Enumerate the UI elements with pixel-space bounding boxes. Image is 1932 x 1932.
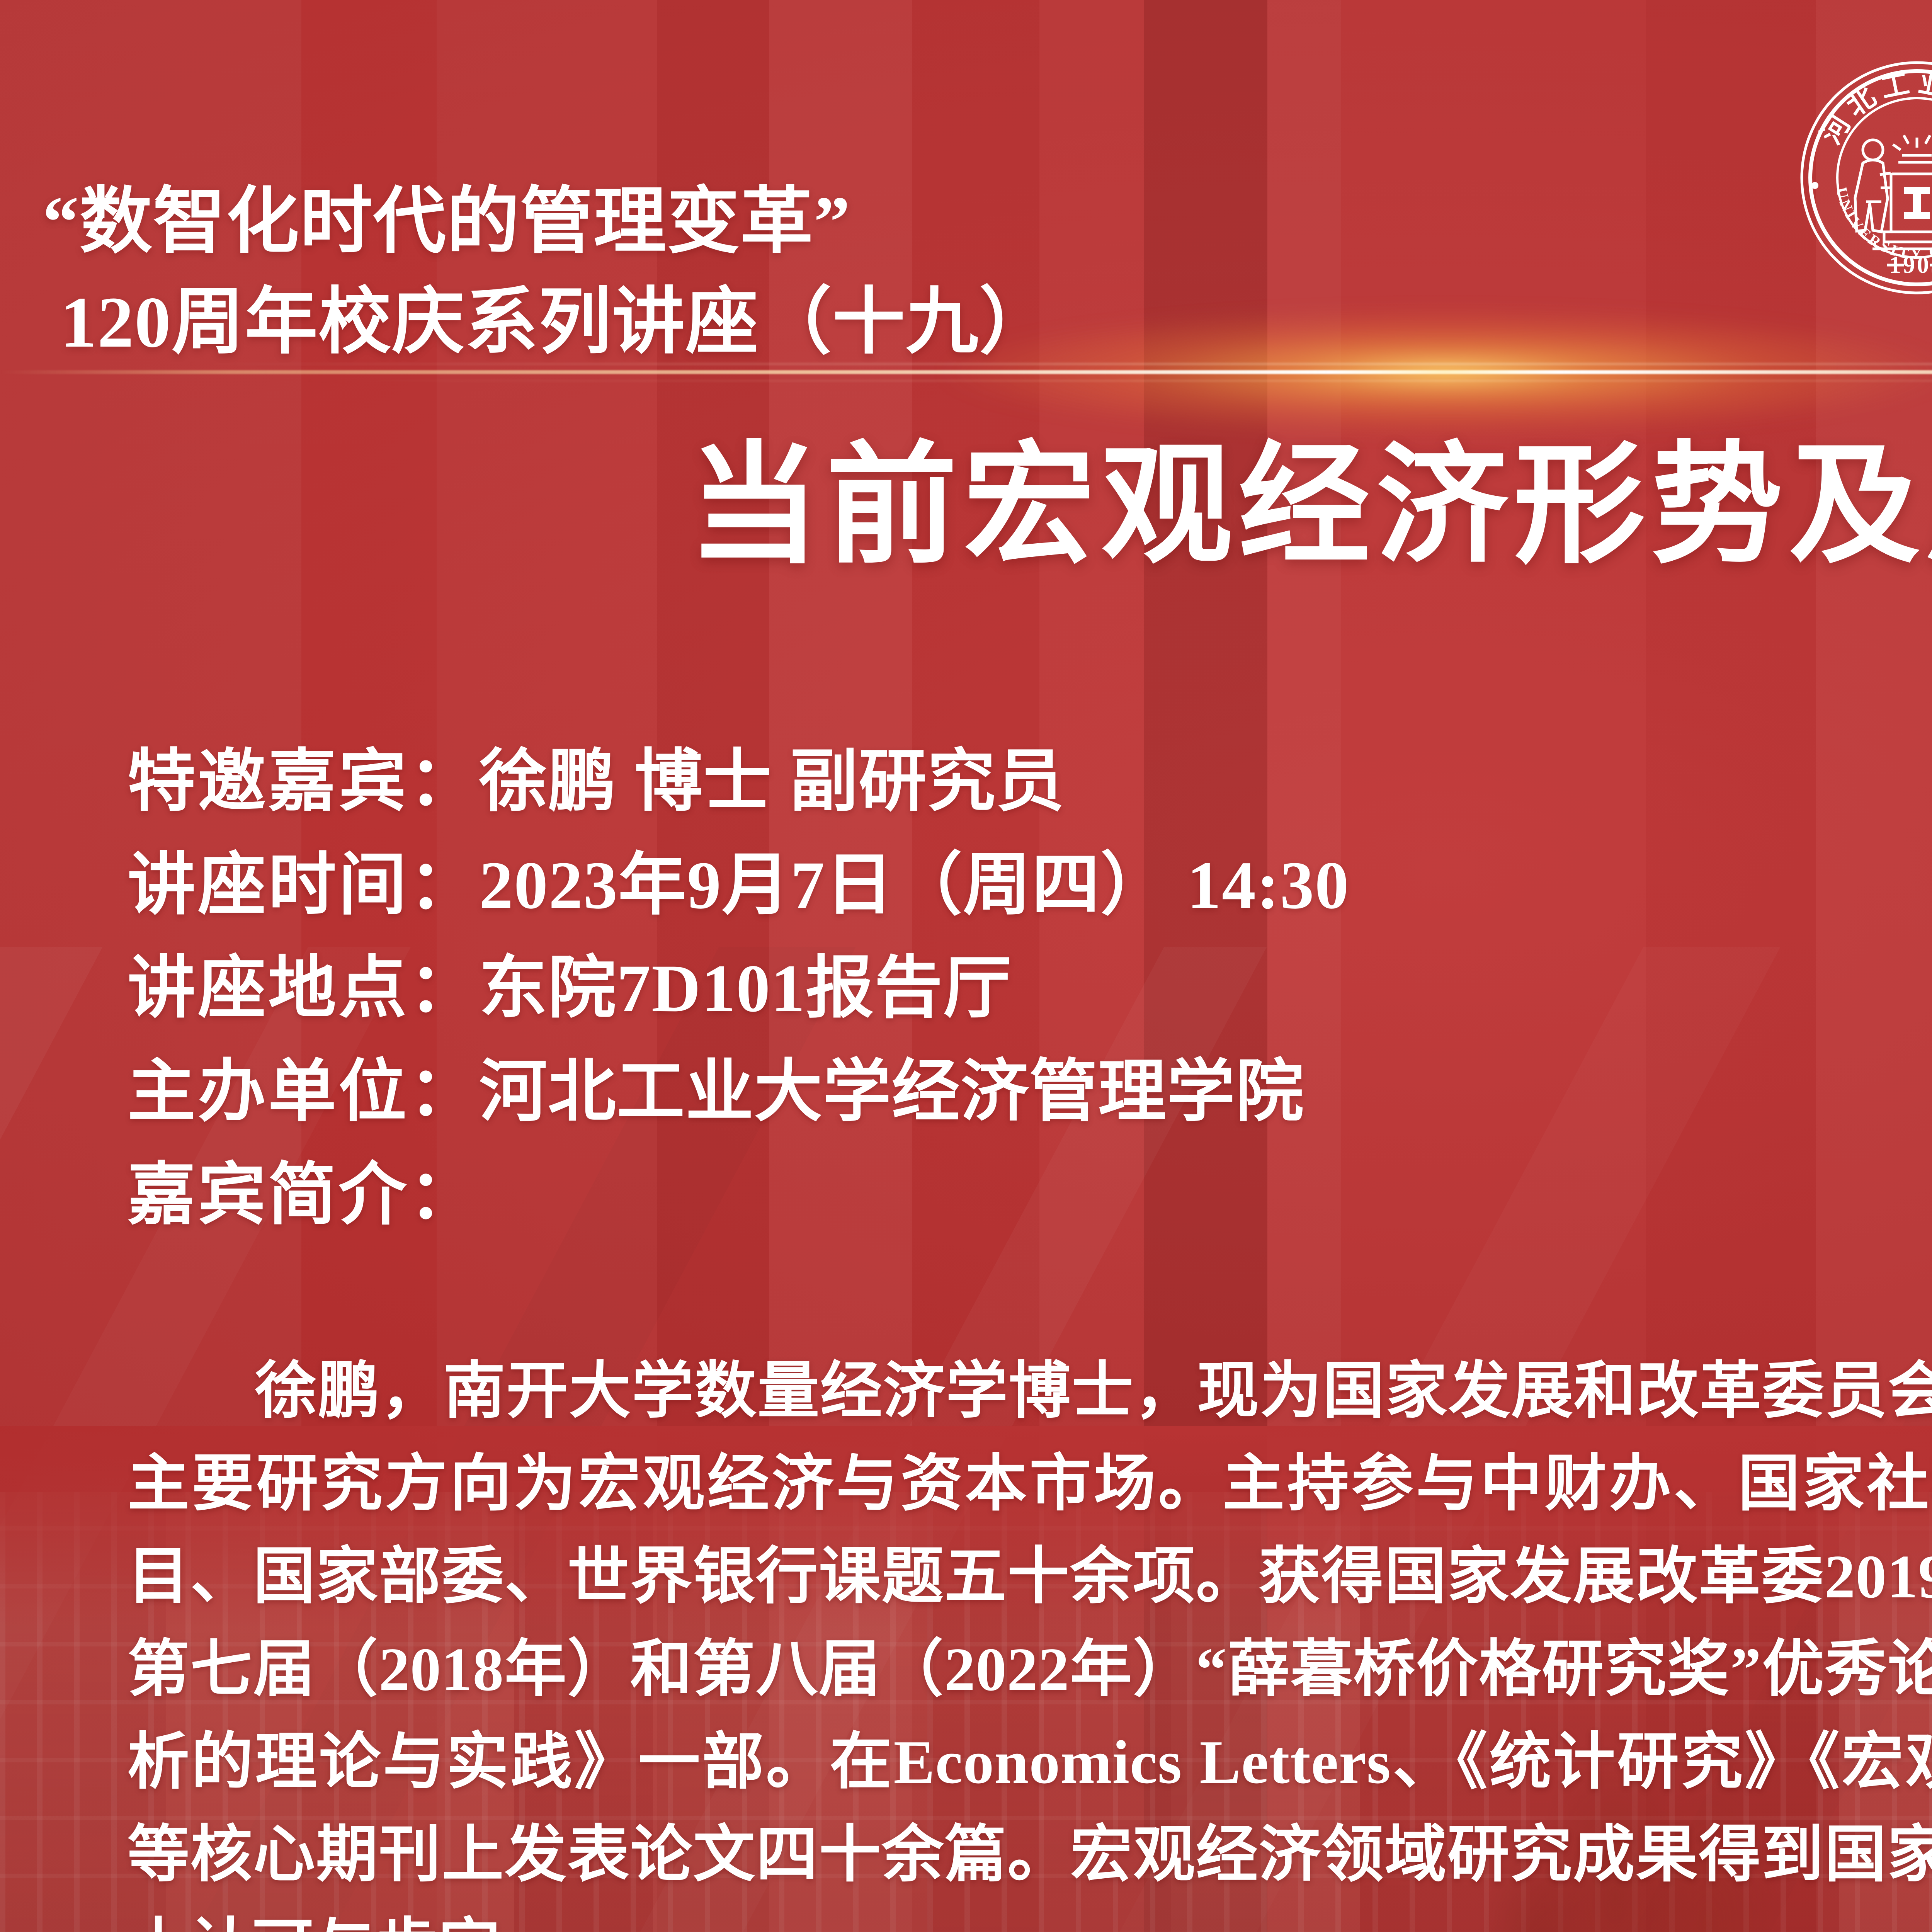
info-label-guest: 特邀嘉宾： <box>128 744 479 820</box>
info-value-venue: 东院7D101报告厅 <box>479 951 1012 1026</box>
lecture-poster: “数智化时代的管理变革” 120周年校庆系列讲座（十九） 河北工业大学 HEBE… <box>0 0 1932 1932</box>
series-line-1: “数智化时代的管理变革” <box>43 181 851 262</box>
info-row-bio-heading: 嘉宾简介： <box>128 1144 1932 1247</box>
poster-header: “数智化时代的管理变革” 120周年校庆系列讲座（十九） 河北工业大学 HEBE… <box>0 0 1932 340</box>
info-row-guest: 特邀嘉宾：徐鹏 博士 副研究员 <box>128 730 1932 834</box>
flare-streak-2 <box>289 380 1932 381</box>
info-value-time: 2023年9月7日（周四） 14:30 <box>479 848 1350 923</box>
info-label-time: 讲座时间： <box>128 848 479 923</box>
lecture-title: 当前宏观经济形势及展望 <box>0 429 1932 584</box>
info-row-time: 讲座时间：2023年9月7日（周四） 14:30 <box>128 834 1932 937</box>
gold-flare-divider <box>0 340 1932 406</box>
info-row-organizer: 主办单位：河北工业大学经济管理学院 <box>128 1041 1932 1144</box>
flare-streak-1 <box>173 363 1932 365</box>
info-label-venue: 讲座地点： <box>128 951 479 1026</box>
school-brand-lockup: 河北工业大学 HEBEI UNIVERSITY OF TECHNOLOGY <box>1797 58 1932 298</box>
svg-text:1903: 1903 <box>1889 252 1932 278</box>
info-value-organizer: 河北工业大学经济管理学院 <box>479 1054 1304 1130</box>
flare-core-line <box>0 370 1932 374</box>
info-row-venue: 讲座地点：东院7D101报告厅 <box>128 937 1932 1041</box>
lecture-info-block: 特邀嘉宾：徐鹏 博士 副研究员 讲座时间：2023年9月7日（周四） 14:30… <box>128 730 1932 1247</box>
info-label-organizer: 主办单位： <box>128 1054 479 1130</box>
info-label-bio: 嘉宾简介： <box>128 1158 479 1233</box>
speaker-biography: 徐鹏，南开大学数量经济学博士，现为国家发展和改革委员会市场与价格研究所副研究员，… <box>128 1345 1932 1932</box>
info-value-guest: 徐鹏 博士 副研究员 <box>479 744 1065 820</box>
university-seal-icon: 河北工业大学 HEBEI UNIVERSITY OF TECHNOLOGY <box>1797 58 1932 298</box>
lecture-series-kicker: “数智化时代的管理变革” 120周年校庆系列讲座（十九） <box>43 71 1053 473</box>
